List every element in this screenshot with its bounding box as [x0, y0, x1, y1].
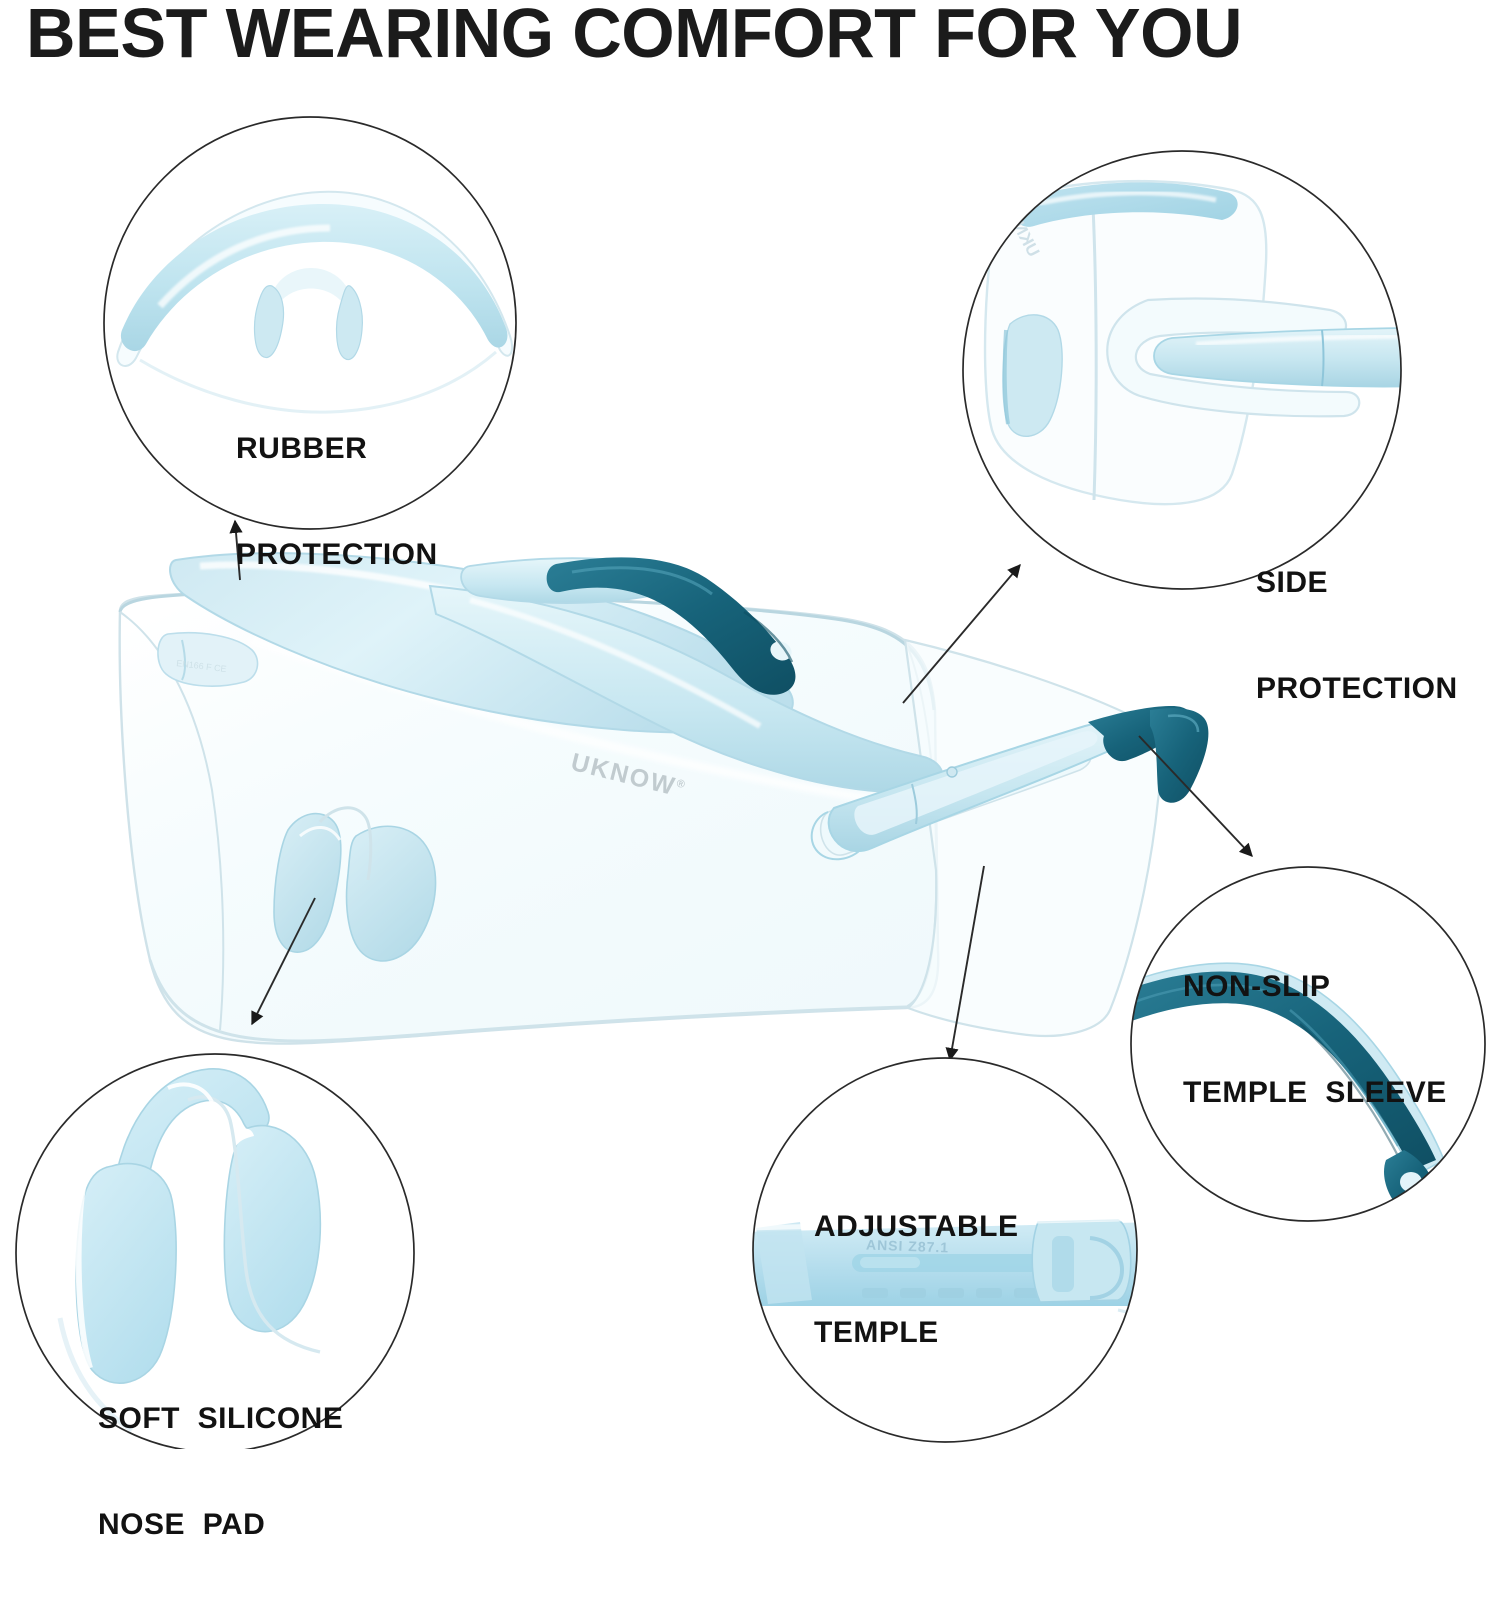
svg-text:EN166 F CE: EN166 F CE: [176, 658, 227, 674]
right-temple-arm: [812, 706, 1209, 859]
leader-line-side: [903, 565, 1020, 703]
svg-text:UKNOW: UKNOW: [995, 192, 1043, 260]
callout-label-non-slip-temple-sleeve: NON-SLIP TEMPLE SLEEVE: [1183, 898, 1447, 1181]
leader-line-adjust: [950, 866, 984, 1060]
rear-temple-arm: [461, 557, 795, 694]
callout-label-side-protection: SIDE PROTECTION: [1256, 494, 1458, 777]
infographic-canvas: BEST WEARING COMFORT FOR YOU: [0, 0, 1500, 1449]
leader-line-nosepad: [252, 898, 315, 1024]
page-title: BEST WEARING COMFORT FOR YOU: [26, 0, 1457, 72]
callout-label-rubber-protection: RUBBER PROTECTION: [236, 360, 438, 643]
lens-shield: [120, 593, 939, 1044]
leader-line-nonslip: [1139, 736, 1252, 856]
nose-pad: [274, 808, 436, 961]
callout-label-soft-silicone-nose-pad: SOFT SILICONE NOSE PAD: [98, 1330, 343, 1613]
callout-label-adjustable-temple: ADJUSTABLE TEMPLE: [814, 1138, 1018, 1421]
brand-logo: UKNOW®: [568, 748, 689, 805]
right-side-shield: [905, 640, 1161, 1036]
